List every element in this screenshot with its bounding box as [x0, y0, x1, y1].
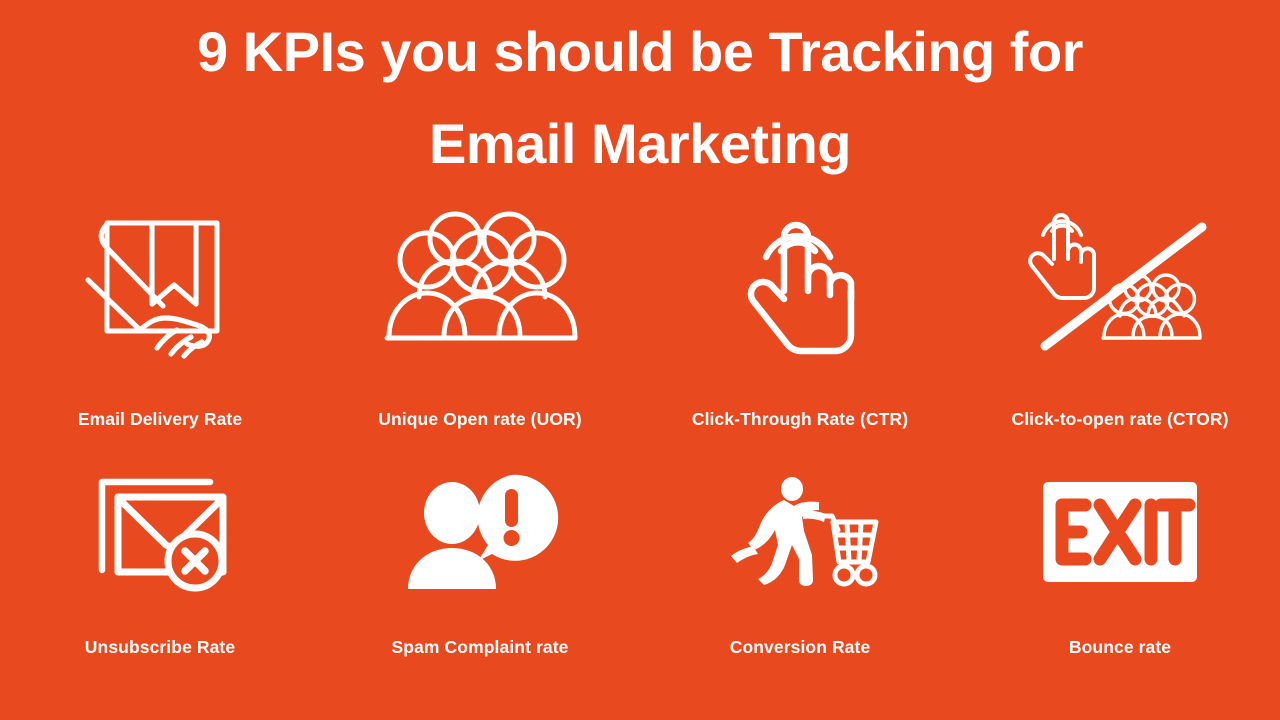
page-title-line-2: Email Marketing: [0, 98, 1280, 190]
click-over-people-ratio-icon: [1005, 194, 1235, 369]
people-group-icon: [365, 194, 595, 369]
kpi-label-click-through-rate: Click-Through Rate (CTR): [692, 408, 908, 430]
person-pushing-shopping-cart-icon: [685, 465, 915, 600]
person-with-alert-bubble-icon: [365, 465, 595, 600]
kpi-label-unsubscribe-rate: Unsubscribe Rate: [85, 636, 235, 658]
exit-sign-icon: [1005, 465, 1235, 600]
kpi-label-click-to-open-rate: Click-to-open rate (CTOR): [1011, 408, 1228, 430]
page-title-line-1: 9 KPIs you should be Tracking for: [0, 6, 1280, 98]
envelope-with-x-icon: [45, 465, 275, 600]
tap-click-hand-icon: [685, 194, 915, 369]
kpi-label-unique-open-rate: Unique Open rate (UOR): [378, 408, 581, 430]
kpi-label-bounce-rate: Bounce rate: [1069, 636, 1171, 658]
kpi-label-email-delivery-rate: Email Delivery Rate: [78, 408, 242, 430]
kpi-label-conversion-rate: Conversion Rate: [730, 636, 871, 658]
page-title: 9 KPIs you should be Tracking for Email …: [0, 6, 1280, 190]
kpi-grid: Email Delivery Rate Unique Open rate (UO…: [0, 186, 1280, 686]
slide-canvas: 9 KPIs you should be Tracking for Email …: [0, 0, 1280, 720]
hand-delivering-package-icon: [45, 194, 275, 369]
kpi-label-spam-complaint-rate: Spam Complaint rate: [392, 636, 569, 658]
